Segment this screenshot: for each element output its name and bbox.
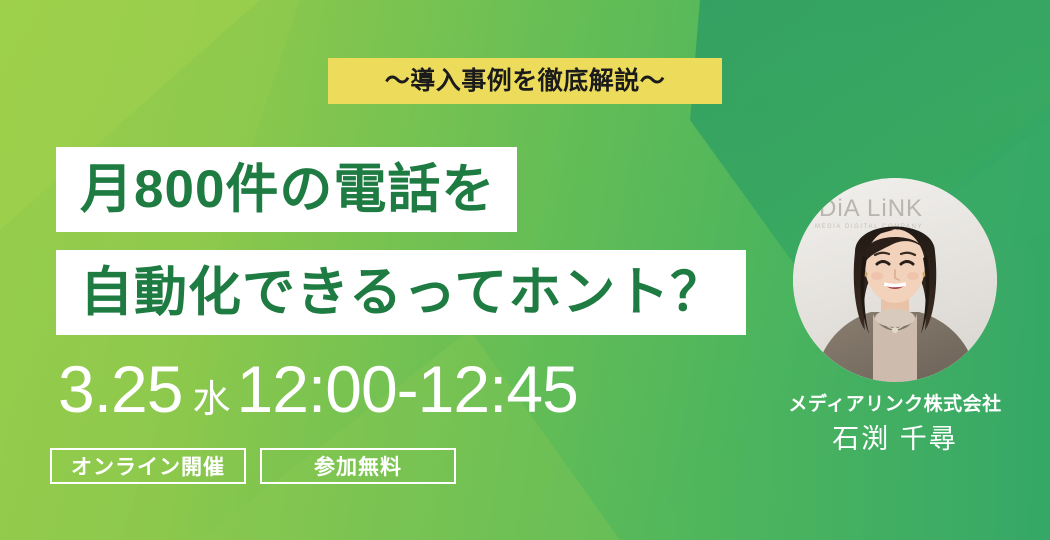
event-time: 12:00-12:45: [236, 356, 577, 422]
headline-line-2: 自動化できるってホント？: [56, 250, 746, 335]
speaker-avatar: DiA LiNK MEDIA DIGITAL COMPANY: [793, 178, 997, 382]
badge-free: 参加無料: [260, 448, 456, 484]
badge-group: オンライン開催 参加無料: [50, 448, 456, 484]
avatar-illustration: DiA LiNK MEDIA DIGITAL COMPANY: [793, 178, 997, 382]
badge-online: オンライン開催: [50, 448, 246, 484]
headline-line-1: 月800件の電話を: [56, 147, 517, 232]
backdrop-logo-text: DiA LiNK: [819, 195, 923, 222]
ribbon-text: 〜導入事例を徹底解説〜: [385, 69, 666, 94]
speaker-company: メディアリンク株式会社: [788, 394, 1001, 417]
speaker-block: DiA LiNK MEDIA DIGITAL COMPANY: [760, 178, 1030, 455]
event-datetime: 3.25 水 12:00-12:45: [58, 356, 578, 422]
webinar-banner: 〜導入事例を徹底解説〜 月800件の電話を 自動化できるってホント？ 3.25 …: [0, 0, 1050, 540]
speaker-name: 石渕 千尋: [832, 423, 958, 455]
event-day-of-week: 水: [192, 381, 230, 419]
headline-text-1: 月800件の電話を: [80, 163, 495, 216]
ribbon-banner: 〜導入事例を徹底解説〜: [328, 58, 722, 104]
headline-text-2: 自動化できるってホント？: [80, 266, 724, 319]
event-date: 3.25: [58, 356, 182, 422]
